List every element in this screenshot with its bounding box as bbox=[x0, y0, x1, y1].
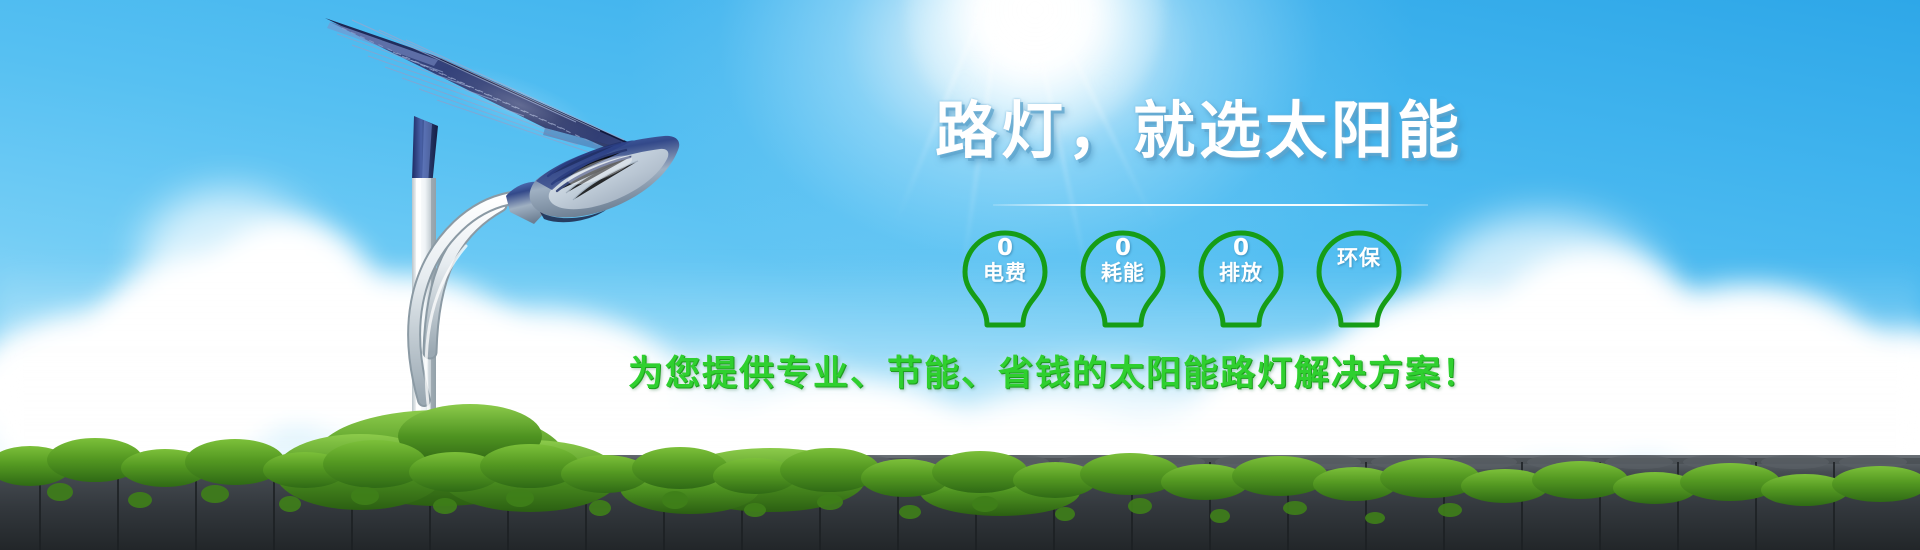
feature-badge-group: 0 电费 0 耗能 0 排放 bbox=[957, 228, 1437, 338]
badge-label: 耗能 bbox=[1075, 261, 1171, 286]
feature-badge-3[interactable]: 环保 bbox=[1311, 228, 1407, 332]
badge-number: 0 bbox=[1075, 236, 1171, 261]
page-subtitle: 为您提供专业、节能、省钱的太阳能路灯解决方案！ bbox=[628, 352, 1479, 396]
page-title: 路灯，就选太阳能 bbox=[935, 96, 1463, 166]
badge-number: 0 bbox=[1193, 236, 1289, 261]
ground-scene bbox=[0, 400, 1920, 550]
feature-badge-1[interactable]: 0 耗能 bbox=[1075, 228, 1171, 332]
feature-badge-2[interactable]: 0 排放 bbox=[1193, 228, 1289, 332]
title-divider-rule bbox=[993, 204, 1428, 206]
badge-label: 环保 bbox=[1311, 246, 1407, 271]
badge-label: 电费 bbox=[957, 261, 1053, 286]
badge-number: 0 bbox=[957, 236, 1053, 261]
badge-label: 排放 bbox=[1193, 261, 1289, 286]
solar-streetlamp-banner: 路灯，就选太阳能 0 电费 0 耗能 bbox=[0, 0, 1920, 550]
feature-badge-0[interactable]: 0 电费 bbox=[957, 228, 1053, 332]
